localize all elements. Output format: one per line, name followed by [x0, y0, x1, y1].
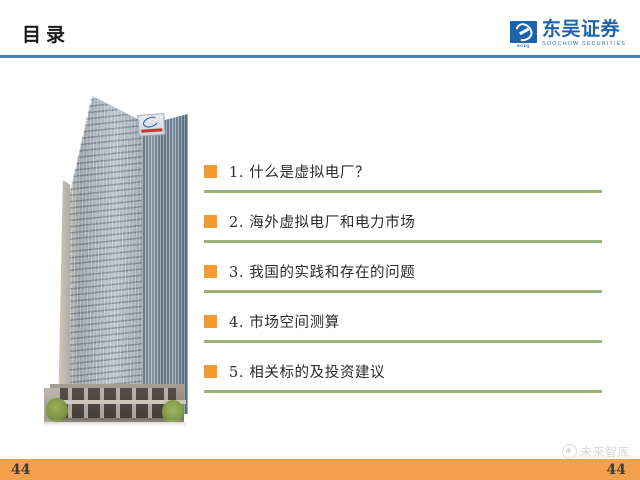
watermark-text: 未来智库 — [580, 443, 630, 460]
toc-item-divider — [204, 290, 602, 293]
page-title: 目录 — [22, 26, 70, 45]
building-ground — [44, 422, 186, 427]
toc-item-label: 2. 海外虚拟电厂和电力市场 — [229, 211, 415, 232]
toc-item-divider — [204, 190, 602, 193]
square-bullet-icon — [204, 315, 217, 328]
tree-right-icon — [162, 400, 184, 424]
header-divider — [0, 55, 640, 58]
brand-name-en: SOOCHOW SECURITIES — [542, 42, 626, 48]
toc-item[interactable]: 1. 什么是虚拟电厂？ — [204, 152, 602, 202]
brand-mark-box — [510, 21, 537, 43]
brand-text: 东吴证券 SOOCHOW SECURITIES — [542, 20, 626, 48]
page-number-right: 44 — [607, 461, 626, 479]
toc-item-row: 4. 市场空间测算 — [204, 311, 340, 332]
toc-item-divider — [204, 240, 602, 243]
brand-mark-icon: SCZQ — [510, 21, 537, 48]
toc-item[interactable]: 2. 海外虚拟电厂和电力市场 — [204, 202, 602, 252]
toc-list: 1. 什么是虚拟电厂？ 2. 海外虚拟电厂和电力市场 3. 我国的实践和存在的问… — [204, 152, 602, 402]
square-bullet-icon — [204, 165, 217, 178]
toc-item-divider — [204, 340, 602, 343]
toc-item-row: 3. 我国的实践和存在的问题 — [204, 261, 415, 282]
building-photo — [22, 88, 200, 436]
toc-item[interactable]: 5. 相关标的及投资建议 — [204, 352, 602, 402]
slide-footer: 44 44 — [0, 459, 640, 480]
square-bullet-icon — [204, 365, 217, 378]
page-number-left: 44 — [11, 461, 30, 479]
toc-item-label: 1. 什么是虚拟电厂？ — [229, 161, 370, 182]
toc-item-label: 4. 市场空间测算 — [229, 311, 340, 332]
toc-item-label: 5. 相关标的及投资建议 — [229, 361, 385, 382]
brand-logo: SCZQ 东吴证券 SOOCHOW SECURITIES — [510, 18, 626, 50]
square-bullet-icon — [204, 215, 217, 228]
brand-name-cn: 东吴证券 — [542, 20, 626, 39]
slide-root: 目录 SCZQ 东吴证券 SOOCHOW SECURITIES — [0, 0, 640, 480]
square-bullet-icon — [204, 265, 217, 278]
toc-item[interactable]: 4. 市场空间测算 — [204, 302, 602, 352]
tree-left-icon — [46, 398, 68, 422]
toc-item-label: 3. 我国的实践和存在的问题 — [229, 261, 415, 282]
rooftop-logo-icon — [137, 113, 165, 137]
rooftop-logo-swirl-icon — [142, 115, 160, 130]
rooftop-logo-bar — [141, 128, 162, 132]
toc-item-row: 1. 什么是虚拟电厂？ — [204, 161, 370, 182]
tower-side-wing-lines — [142, 114, 188, 414]
toc-item-row: 5. 相关标的及投资建议 — [204, 361, 385, 382]
slide-header: 目录 SCZQ 东吴证券 SOOCHOW SECURITIES — [0, 0, 640, 60]
toc-item-divider — [204, 390, 602, 393]
watermark: 未来智库 — [562, 443, 630, 460]
toc-item-row: 2. 海外虚拟电厂和电力市场 — [204, 211, 415, 232]
toc-item[interactable]: 3. 我国的实践和存在的问题 — [204, 252, 602, 302]
brand-mark-abbr: SCZQ — [510, 43, 537, 48]
watermark-badge-icon — [562, 444, 577, 459]
